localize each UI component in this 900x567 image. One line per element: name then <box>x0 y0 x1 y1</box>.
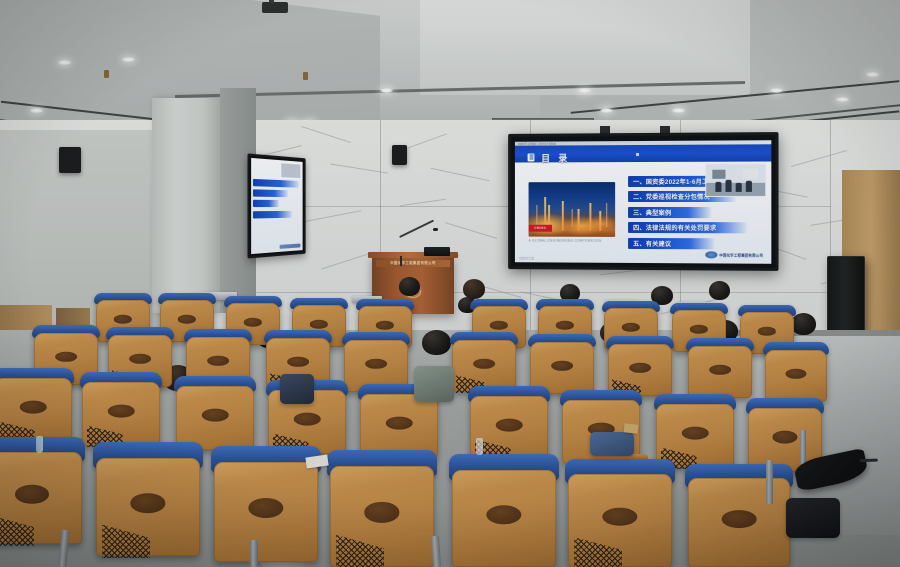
wall-speaker-center <box>392 145 407 165</box>
podium-banner-text: 中国化学工程集团有限公司 <box>376 260 450 267</box>
microphone-head-icon <box>433 228 438 231</box>
secondary-pip <box>280 162 301 179</box>
ceiling-downlight <box>836 97 849 102</box>
photo-stack <box>606 203 607 227</box>
auditorium-seat[interactable] <box>452 340 516 392</box>
auditorium-seat[interactable] <box>765 350 827 402</box>
ceiling-downlight <box>866 72 879 77</box>
audience-head <box>709 281 730 300</box>
seat-leg <box>766 460 773 504</box>
slide-footer-note: 中国化学工程 <box>519 256 534 260</box>
presentation-slide: 中国化学工程集团 工程分包专项检查 目 录 <box>515 140 771 264</box>
secondary-toc-item <box>253 200 279 207</box>
audience-head <box>463 279 485 299</box>
audience-head <box>399 277 420 296</box>
seat-back-inlay <box>496 419 523 432</box>
conference-hall-photo: 中国化学工程集团 工程分包专项检查 目 录 <box>0 0 900 567</box>
ceiling-downlight <box>380 88 393 93</box>
slide-header: 目 录 <box>515 144 771 162</box>
seat-back-inlay <box>294 413 321 426</box>
structural-column <box>152 98 220 313</box>
auditorium-seat[interactable] <box>96 458 200 556</box>
slide-header-marker <box>636 153 638 156</box>
toc-item-label: 二、党委巡视检查分包情况 <box>628 192 710 201</box>
slide-refinery-photo: CNCEC <box>529 182 616 237</box>
ceiling-dropped-soffit <box>420 0 750 95</box>
auditorium-seat[interactable] <box>452 470 556 567</box>
ceiling-downlight <box>672 108 685 113</box>
microphone-stem <box>400 256 402 266</box>
pip-remote-display <box>712 170 725 179</box>
seat-back-inlay <box>722 510 757 528</box>
auditorium-seat[interactable] <box>688 346 752 398</box>
ceiling-downlight <box>578 88 591 93</box>
toc-item-label: 五、有关建议 <box>628 239 671 248</box>
main-led-video-wall[interactable]: 中国化学工程集团 工程分包专项检查 目 录 <box>508 132 778 271</box>
list-icon <box>528 153 535 161</box>
auditorium-seat[interactable] <box>0 452 82 544</box>
photo-stack <box>572 209 573 227</box>
auditorium-seat[interactable] <box>608 344 672 396</box>
toc-item-label: 三、典型案例 <box>628 208 671 217</box>
auditorium-seat[interactable] <box>176 386 254 450</box>
cncec-badge-text: CNCEC <box>529 225 552 232</box>
audience-bag <box>414 366 454 402</box>
ceiling-downlight <box>770 88 783 93</box>
pip-person <box>746 181 752 192</box>
sprinkler-head-icon <box>104 70 109 78</box>
handout-papers <box>624 423 639 433</box>
slide-body: CNCEC A GLOBAL ENGINEERING CORPORATION 一… <box>515 161 771 263</box>
photo-stack <box>536 205 537 227</box>
water-bottle <box>476 438 483 455</box>
toc-item[interactable]: 五、有关建议 <box>628 238 714 249</box>
seat-leg <box>800 430 806 464</box>
toc-item[interactable]: 三、典型案例 <box>628 207 711 218</box>
ceiling-downlight <box>600 108 613 113</box>
audience-jacket <box>590 432 634 456</box>
auditorium-seat[interactable] <box>214 462 318 562</box>
cncec-logo-badge: CNCEC <box>529 225 552 232</box>
audience-head <box>422 330 451 355</box>
wall-speaker-left <box>59 147 81 173</box>
photo-highlight <box>562 201 564 231</box>
secondary-slide <box>251 158 302 254</box>
company-name-text: 中国化学工程集团有限公司 <box>719 252 763 257</box>
audience-head <box>791 313 816 335</box>
ceiling-downlight <box>58 60 71 65</box>
ceiling-downlight <box>122 57 135 62</box>
slide-photo-caption: A GLOBAL ENGINEERING CORPORATION <box>529 239 637 243</box>
toc-item-label: 四、法律法规的有关处罚要求 <box>628 223 716 232</box>
slide-footer-logo: 中国化学工程集团有限公司 <box>705 251 763 258</box>
secondary-footer-logo <box>280 244 301 249</box>
auditorium-seat[interactable] <box>568 474 672 567</box>
video-conference-pip[interactable] <box>705 164 766 197</box>
photo-highlight <box>578 209 580 231</box>
seat-back-inlay <box>20 401 47 414</box>
auditorium-seat[interactable] <box>330 466 434 567</box>
pip-person <box>736 183 742 192</box>
secondary-led-display[interactable] <box>247 153 305 258</box>
toc-item[interactable]: 四、法律法规的有关处罚要求 <box>628 222 747 233</box>
auditorium-seat[interactable] <box>0 378 72 442</box>
seat-leg <box>250 540 258 567</box>
seat-back-inlay <box>602 507 637 526</box>
secondary-toc-item <box>253 179 299 188</box>
audience-bag <box>280 374 314 404</box>
podium-banner: 中国化学工程集团有限公司 <box>376 260 450 267</box>
seat-back-inlay <box>130 493 165 513</box>
seat-back-inlay <box>202 409 229 422</box>
photo-highlight <box>589 203 591 231</box>
auditorium-seat[interactable] <box>82 382 160 446</box>
auditorium-seat[interactable] <box>688 478 790 567</box>
company-logo-icon <box>705 251 717 258</box>
photo-highlight <box>599 211 601 231</box>
ceiling-projector <box>262 2 288 13</box>
floor-bag <box>786 498 840 538</box>
secondary-toc-item <box>253 190 288 198</box>
seat-back-inlay <box>386 417 413 430</box>
pip-person <box>715 182 721 192</box>
auditorium-seat[interactable] <box>360 394 438 458</box>
seat-back-inlay <box>772 431 797 444</box>
secondary-toc-item <box>253 210 292 218</box>
pip-remote-whiteboard <box>743 169 758 179</box>
ceiling-downlight <box>30 108 43 113</box>
seat-back-inlay <box>682 427 709 440</box>
pip-person <box>725 180 731 192</box>
water-bottle <box>36 436 43 453</box>
seat-back-inlay <box>248 498 283 518</box>
secondary-toc-list <box>253 179 301 221</box>
sprinkler-head-icon <box>303 72 308 80</box>
seat-back-inlay <box>108 405 135 418</box>
podium-microphone <box>400 236 436 258</box>
